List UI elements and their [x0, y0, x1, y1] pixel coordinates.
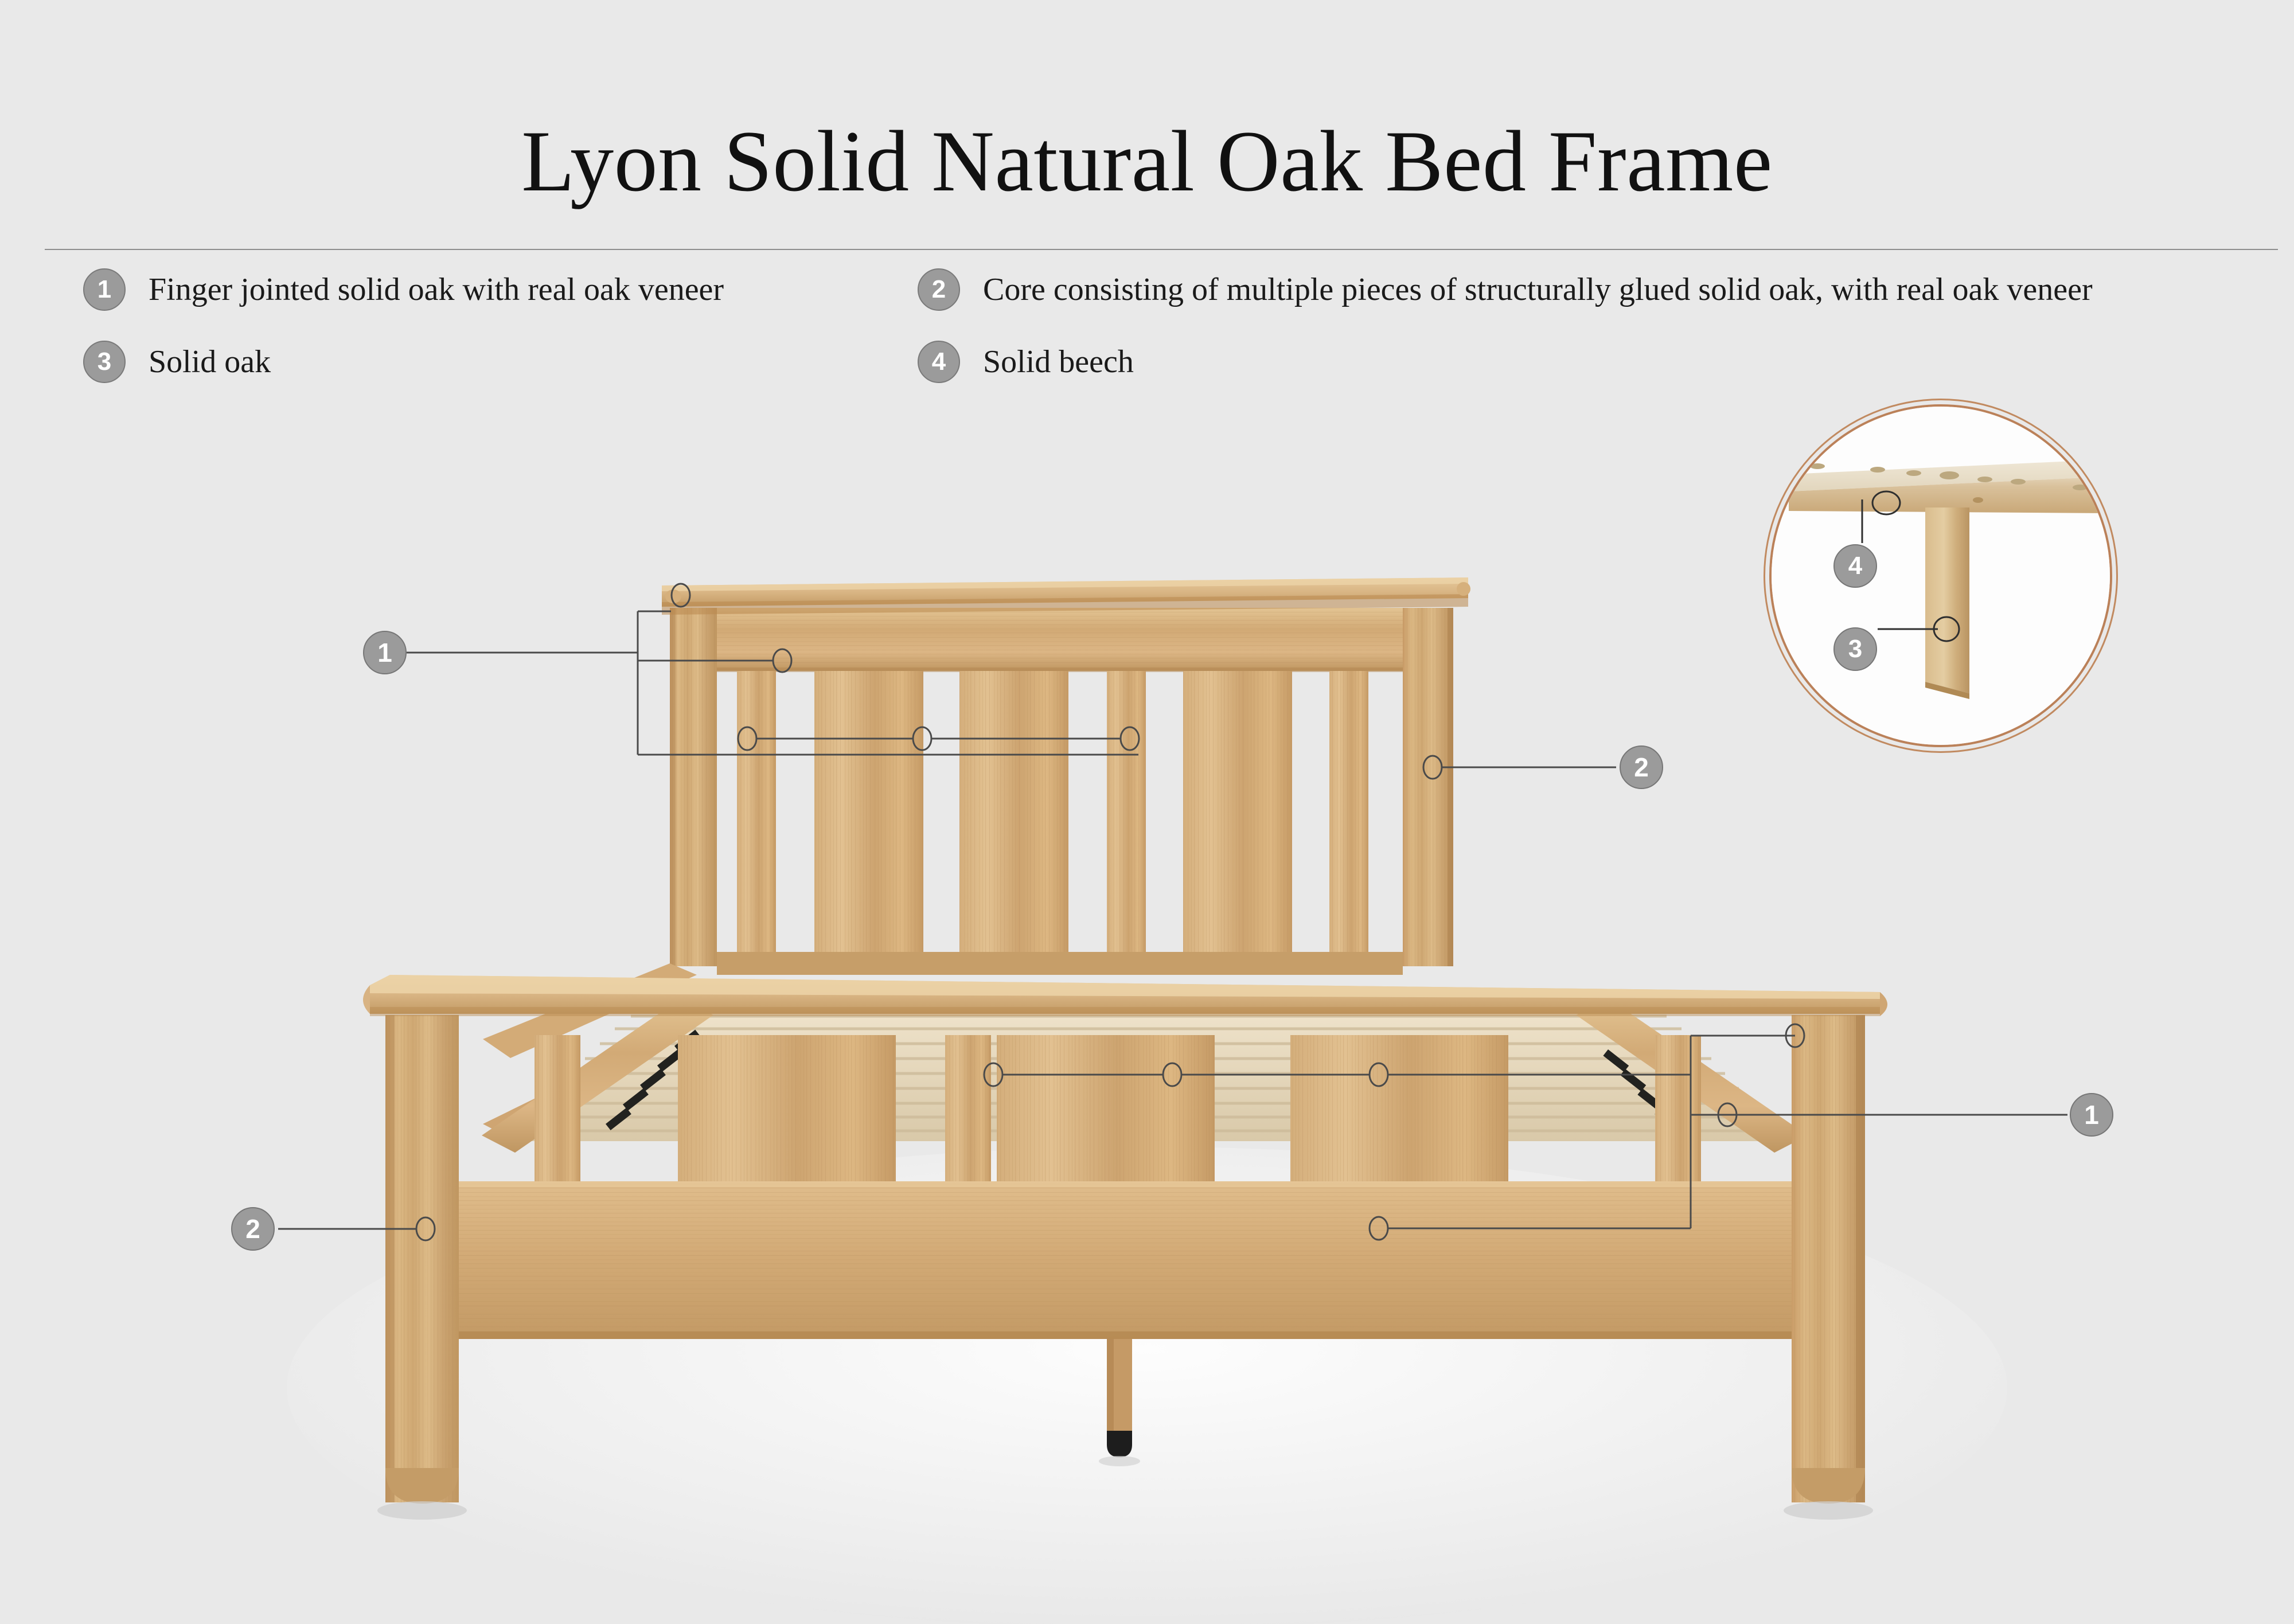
bed-frame-illustration [0, 0, 2294, 1624]
callout-badge-1-footboard[interactable]: 1 [2070, 1093, 2113, 1137]
callout-badge-2-headboard-post[interactable]: 2 [1620, 745, 1663, 789]
detail-inset-circle[interactable]: 4 3 [1769, 404, 2112, 747]
headboard [662, 577, 1470, 975]
inset-callout-badge-3[interactable]: 3 [1833, 627, 1877, 671]
inset-callout-badge-4[interactable]: 4 [1833, 544, 1877, 588]
callout-badge-2-footboard-post[interactable]: 2 [231, 1207, 275, 1251]
detail-inset-artwork [1772, 407, 2110, 745]
callout-badge-1-headboard[interactable]: 1 [363, 631, 407, 674]
headboard-slats [737, 671, 1368, 965]
infographic-canvas: Lyon Solid Natural Oak Bed Frame 1 Finge… [0, 0, 2294, 1624]
